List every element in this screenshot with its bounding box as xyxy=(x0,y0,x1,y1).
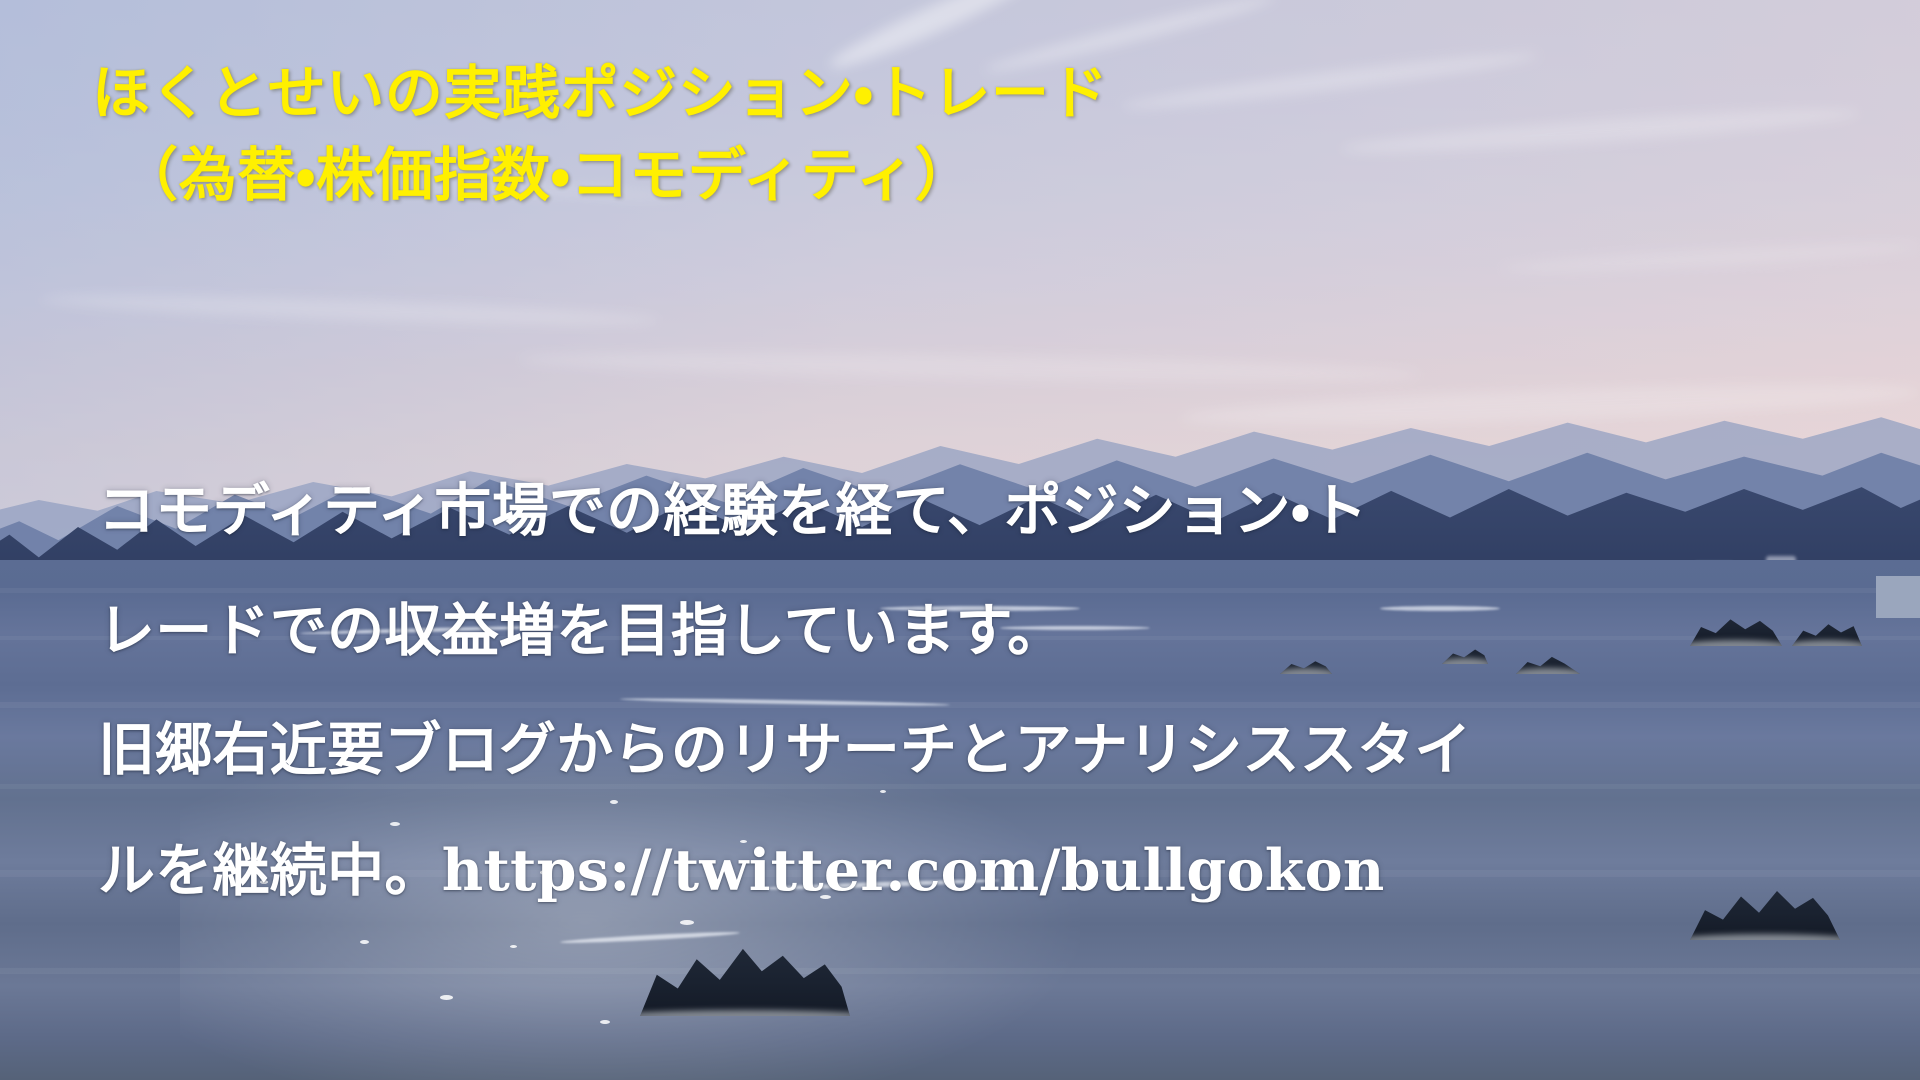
description-line-3: 旧郷右近要ブログからのリサーチとアナリシススタイ xyxy=(98,691,1838,811)
banner-title: ほくとせいの実践ポジション・トレード （為替・株価指数・コモディティ） xyxy=(92,52,1592,217)
description-line-1: コモディティ市場での経験を経て、ポジション・ト xyxy=(98,452,1838,572)
description-line-4: ルを継続中。https://twitter.com/bullgokon xyxy=(98,811,1838,932)
profile-banner: ほくとせいの実践ポジション・トレード （為替・株価指数・コモディティ） コモディ… xyxy=(0,0,1920,1080)
text-overlay: ほくとせいの実践ポジション・トレード （為替・株価指数・コモディティ） コモディ… xyxy=(0,0,1920,1080)
description-line-4-prefix: ルを継続中。 xyxy=(98,838,442,904)
banner-description: コモディティ市場での経験を経て、ポジション・ト レードでの収益増を目指しています… xyxy=(98,452,1838,932)
description-line-2: レードでの収益増を目指しています。 xyxy=(98,572,1838,692)
twitter-profile-link[interactable]: https://twitter.com/bullgokon xyxy=(442,837,1385,904)
title-line-1: ほくとせいの実践ポジション・トレード xyxy=(92,52,1592,134)
title-line-2: （為替・株価指数・コモディティ） xyxy=(92,134,1592,216)
